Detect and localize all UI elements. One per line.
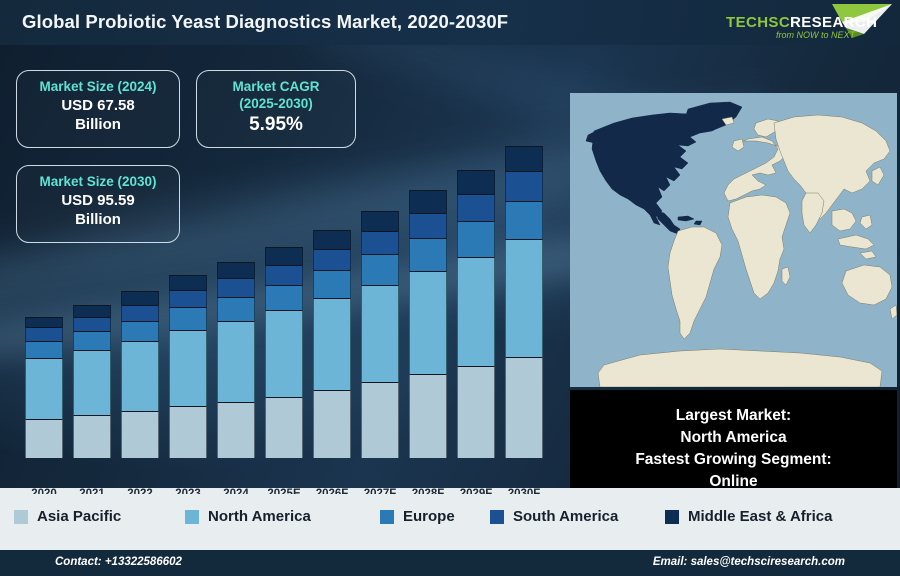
footer-contact: Contact: +13322586602: [55, 556, 182, 568]
bar-segment-europe-2022: [121, 321, 159, 341]
bar-column-2022: [121, 291, 159, 458]
legend-swatch-icon: [185, 510, 199, 524]
bar-segment-middle-east-africa-2027F: [361, 211, 399, 231]
chart-panel: Market Size (2024) USD 67.58 Billion Mar…: [0, 45, 900, 488]
legend-swatch-icon: [490, 510, 504, 524]
bar-segment-europe-2029F: [457, 221, 495, 257]
legend-swatch-icon: [665, 510, 679, 524]
fastest-segment-value: Online: [709, 471, 757, 489]
bar-column-2026F: [313, 230, 351, 458]
bar-segment-south-america-2026F: [313, 249, 351, 270]
legend-label: South America: [513, 508, 618, 525]
footer-email: Email: sales@techsciresearch.com: [653, 556, 845, 568]
bar-column-2020: [25, 317, 63, 458]
legend-label: Asia Pacific: [37, 508, 121, 525]
page-title: Global Probiotic Yeast Diagnostics Marke…: [22, 11, 508, 33]
legend-swatch-icon: [380, 510, 394, 524]
bar-segment-asia-pacific-2027F: [361, 382, 399, 458]
chart-legend: Asia PacificNorth AmericaEuropeSouth Ame…: [0, 494, 900, 540]
bar-column-2028F: [409, 190, 447, 458]
bar-segment-south-america-2023: [169, 290, 207, 307]
largest-market-value: North America: [680, 427, 786, 449]
bar-segment-south-america-2022: [121, 305, 159, 321]
stacked-bar-chart: [0, 45, 565, 458]
world-map: [570, 93, 897, 387]
bar-segment-asia-pacific-2029F: [457, 366, 495, 458]
legend-label: Europe: [403, 508, 455, 525]
legend-swatch-icon: [14, 510, 28, 524]
bar-segment-north-america-2022: [121, 341, 159, 412]
bar-segment-south-america-2028F: [409, 213, 447, 238]
bar-segment-middle-east-africa-2028F: [409, 190, 447, 213]
bar-segment-europe-2020: [25, 341, 63, 358]
bar-segment-south-america-2027F: [361, 231, 399, 254]
bar-segment-north-america-2030F: [505, 239, 543, 356]
bar-segment-middle-east-africa-2029F: [457, 170, 495, 194]
bar-segment-north-america-2026F: [313, 298, 351, 390]
legend-item-north-america[interactable]: North America: [185, 508, 311, 525]
bar-segment-asia-pacific-2023: [169, 406, 207, 458]
bar-segment-middle-east-africa-2024: [217, 262, 255, 278]
legend-label: Middle East & Africa: [688, 508, 832, 525]
infographic-page: Global Probiotic Yeast Diagnostics Marke…: [0, 0, 900, 576]
legend-item-middle-east-africa[interactable]: Middle East & Africa: [665, 508, 832, 525]
bar-column-2021: [73, 305, 111, 458]
bar-segment-europe-2030F: [505, 201, 543, 240]
bar-segment-middle-east-africa-2023: [169, 275, 207, 290]
bar-segment-europe-2025E: [265, 285, 303, 310]
legend-item-south-america[interactable]: South America: [490, 508, 618, 525]
bar-segment-middle-east-africa-2021: [73, 305, 111, 317]
logo-brand-part1: TECHSCI: [726, 14, 795, 31]
bar-segment-south-america-2029F: [457, 194, 495, 221]
bar-segment-europe-2028F: [409, 238, 447, 271]
bar-segment-asia-pacific-2022: [121, 411, 159, 458]
bar-segment-north-america-2025E: [265, 310, 303, 397]
bar-segment-asia-pacific-2030F: [505, 357, 543, 458]
bar-segment-middle-east-africa-2026F: [313, 230, 351, 249]
bar-segment-south-america-2024: [217, 278, 255, 297]
techsci-research-logo: TECHSCI RESEARCH from NOW to NEXT: [714, 2, 894, 43]
bar-column-2023: [169, 275, 207, 458]
logo-tagline: from NOW to NEXT: [776, 30, 857, 40]
bar-segment-asia-pacific-2025E: [265, 397, 303, 458]
logo-brand-part2: RESEARCH: [790, 14, 877, 31]
bar-segment-asia-pacific-2021: [73, 415, 111, 458]
bar-segment-middle-east-africa-2022: [121, 291, 159, 304]
bar-segment-north-america-2029F: [457, 257, 495, 366]
bar-segment-europe-2027F: [361, 254, 399, 285]
bar-column-2024: [217, 262, 255, 458]
key-insights-box: Largest Market: North America Fastest Gr…: [570, 390, 897, 488]
bar-segment-north-america-2028F: [409, 271, 447, 374]
bar-segment-south-america-2030F: [505, 171, 543, 200]
bar-column-2030F: [505, 146, 543, 458]
bar-segment-north-america-2023: [169, 330, 207, 406]
bar-column-2027F: [361, 211, 399, 458]
bar-segment-south-america-2021: [73, 317, 111, 332]
bar-segment-south-america-2025E: [265, 265, 303, 285]
legend-label: North America: [208, 508, 311, 525]
bar-column-2025E: [265, 247, 303, 458]
bar-segment-asia-pacific-2020: [25, 419, 63, 458]
bar-column-2029F: [457, 170, 495, 458]
bar-segment-middle-east-africa-2025E: [265, 247, 303, 264]
bar-segment-north-america-2024: [217, 321, 255, 402]
legend-item-asia-pacific[interactable]: Asia Pacific: [14, 508, 121, 525]
bar-segment-asia-pacific-2024: [217, 402, 255, 458]
header-bar: Global Probiotic Yeast Diagnostics Marke…: [0, 0, 900, 45]
legend-item-europe[interactable]: Europe: [380, 508, 455, 525]
fastest-segment-label: Fastest Growing Segment:: [635, 449, 831, 471]
bar-segment-europe-2021: [73, 331, 111, 350]
bar-segment-middle-east-africa-2020: [25, 317, 63, 328]
bar-segment-asia-pacific-2026F: [313, 390, 351, 458]
bar-segment-europe-2026F: [313, 270, 351, 298]
bar-segment-south-america-2020: [25, 327, 63, 340]
bar-segment-north-america-2027F: [361, 285, 399, 382]
bar-segment-north-america-2021: [73, 350, 111, 415]
largest-market-label: Largest Market:: [676, 405, 791, 427]
bar-segment-europe-2024: [217, 297, 255, 321]
bar-segment-europe-2023: [169, 307, 207, 330]
footer-bar: Contact: +13322586602 Email: sales@techs…: [0, 550, 900, 576]
bar-segment-asia-pacific-2028F: [409, 374, 447, 458]
bar-segment-north-america-2020: [25, 358, 63, 419]
bar-segment-middle-east-africa-2030F: [505, 146, 543, 171]
